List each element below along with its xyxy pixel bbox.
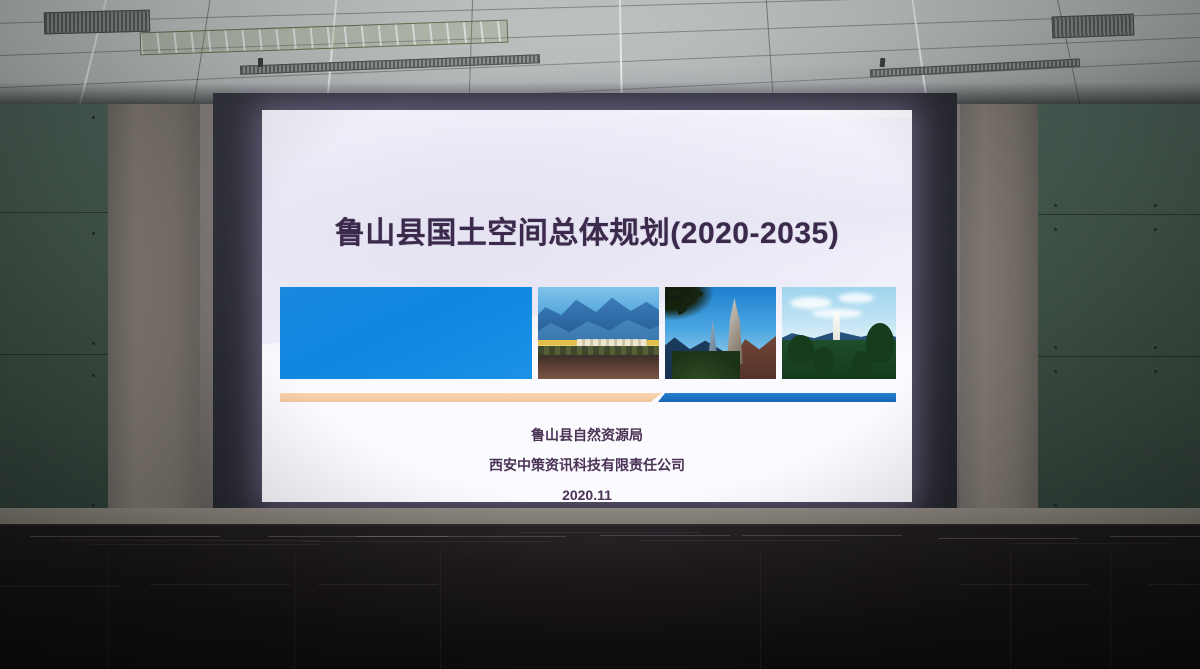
slide-title: 鲁山县国土空间总体规划(2020-2035) bbox=[262, 208, 912, 252]
slide-divider-bars bbox=[280, 393, 896, 402]
wall-column-left bbox=[108, 104, 200, 520]
photo-mountain-village bbox=[538, 287, 659, 379]
acoustic-panel-right bbox=[1038, 104, 1200, 520]
footer-company: 西安中策资讯科技有限责任公司 bbox=[262, 455, 912, 475]
photo-buddha-statue bbox=[782, 287, 896, 379]
blue-color-block bbox=[280, 287, 532, 379]
projected-slide[interactable]: 鲁山县国土空间总体规划(2020-2035) bbox=[262, 110, 912, 502]
wall-column-right bbox=[960, 104, 1038, 520]
slide-footer: 鲁山县自然资源局 西安中策资讯科技有限责任公司 2020.11 bbox=[262, 425, 912, 502]
sprinkler-head bbox=[880, 58, 886, 67]
acoustic-panel-left bbox=[0, 104, 108, 520]
slide-image-band bbox=[280, 287, 896, 379]
sprinkler-head-2 bbox=[258, 58, 263, 67]
room-photo-scene: 鲁山县国土空间总体规划(2020-2035) bbox=[0, 0, 1200, 669]
ceiling-vent-left bbox=[44, 10, 151, 35]
footer-organization: 鲁山县自然资源局 bbox=[262, 425, 912, 445]
footer-date: 2020.11 bbox=[262, 487, 912, 502]
ceiling bbox=[0, 0, 1200, 108]
divider-bar-orange bbox=[280, 393, 662, 402]
photo-rock-pinnacle bbox=[665, 287, 775, 379]
podium bbox=[0, 524, 1200, 669]
divider-bar-blue bbox=[658, 393, 896, 402]
ceiling-vent-right bbox=[1052, 14, 1135, 39]
